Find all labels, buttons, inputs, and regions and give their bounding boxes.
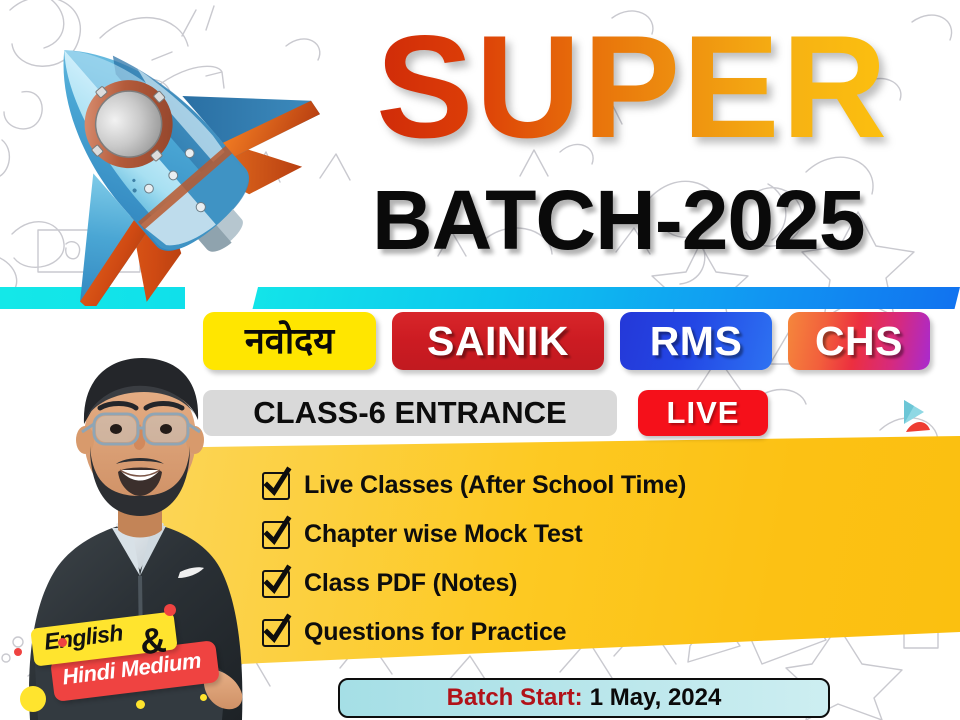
- batch-start-pill: Batch Start: 1 May, 2024: [338, 678, 830, 718]
- checkbox-checked-icon: [262, 619, 290, 647]
- promo-poster: SUPER BATCH-2025: [0, 0, 960, 720]
- badge-sainik-label: SAINIK: [427, 318, 569, 365]
- batch-start-date: 1 May, 2024: [590, 684, 722, 712]
- exam-badge-row: नवोदय SAINIK RMS CHS: [0, 312, 960, 374]
- decor-dot: [200, 694, 207, 701]
- list-item: Questions for Practice: [262, 608, 822, 657]
- badge-chs[interactable]: CHS: [788, 312, 930, 370]
- badge-navodaya[interactable]: नवोदय: [203, 312, 376, 370]
- live-badge[interactable]: LIVE: [638, 390, 768, 436]
- decor-dot: [136, 700, 145, 709]
- rocket-icon: [0, 6, 324, 306]
- decor-dot: [14, 648, 22, 656]
- badge-rms[interactable]: RMS: [620, 312, 772, 370]
- page-subtitle: BATCH-2025: [372, 178, 865, 262]
- feature-label: Questions for Practice: [304, 618, 566, 647]
- feature-label: Live Classes (After School Time): [304, 471, 686, 500]
- badge-navodaya-label: नवोदय: [245, 321, 334, 361]
- decor-dot: [20, 686, 46, 712]
- batch-start-label: Batch Start:: [447, 684, 583, 712]
- medium-badge: English & Hindi Medium: [14, 612, 226, 712]
- brand-logo-icon: [898, 398, 934, 438]
- badge-sainik[interactable]: SAINIK: [392, 312, 604, 370]
- checkbox-checked-icon: [262, 472, 290, 500]
- list-item: Class PDF (Notes): [262, 559, 822, 608]
- decor-dot: [164, 604, 176, 616]
- list-item: Chapter wise Mock Test: [262, 510, 822, 559]
- badge-chs-label: CHS: [815, 318, 903, 365]
- list-item: Live Classes (After School Time): [262, 461, 822, 510]
- decor-dot: [58, 638, 67, 647]
- checkbox-checked-icon: [262, 570, 290, 598]
- checkbox-checked-icon: [262, 521, 290, 549]
- feature-label: Class PDF (Notes): [304, 569, 517, 598]
- badge-rms-label: RMS: [650, 318, 743, 365]
- feature-list: Live Classes (After School Time) Chapter…: [262, 461, 822, 657]
- live-badge-label: LIVE: [667, 395, 740, 431]
- class-entrance-label: CLASS-6 ENTRANCE: [253, 395, 566, 431]
- divider-bar-right: [253, 287, 960, 309]
- feature-label: Chapter wise Mock Test: [304, 520, 583, 549]
- course-row: CLASS-6 ENTRANCE LIVE: [0, 390, 960, 440]
- page-title: SUPER: [376, 14, 889, 160]
- class-entrance-pill[interactable]: CLASS-6 ENTRANCE: [203, 390, 617, 436]
